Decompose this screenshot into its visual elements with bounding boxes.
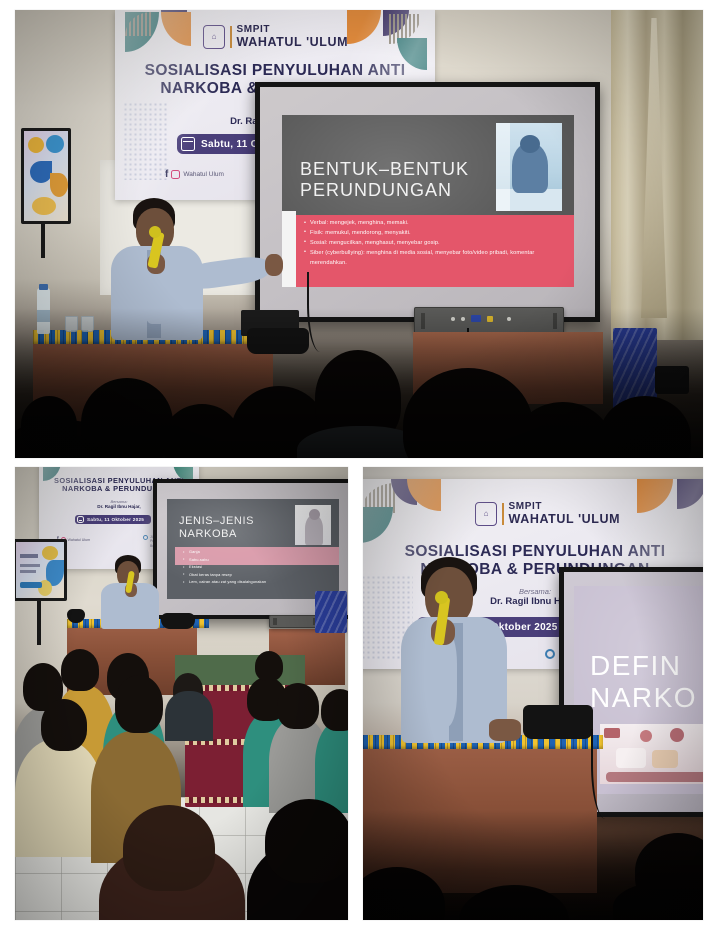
school-logo-row: ⌂ SMPIT WAHATUL 'ULUM (475, 501, 620, 526)
slide-bullet: Obat keras tanpa resep (183, 571, 333, 579)
banner-shape-orange-right (637, 479, 673, 513)
tv-blob-4 (50, 173, 68, 197)
facebook-icon: f (165, 170, 168, 179)
slide-top-bullets: Verbal: mengejek, menghina, memaki. Fisi… (304, 219, 564, 269)
photo-bottom-right: ⌂ SMPIT WAHATUL 'ULUM SOSIALISASI PENYUL… (363, 467, 703, 920)
banner-date-text: Sabtu, 11 Oktober 2025 (87, 517, 144, 522)
audience-shoulder (15, 739, 103, 857)
banner-date-pill: Sabtu, 11 Oktober 2025 (75, 515, 151, 524)
slide-image-pill-4 (616, 748, 646, 768)
tv-blob-5 (32, 197, 56, 215)
slide-bullet: Fisik: memukul, mendorong, menyakiti. (304, 229, 564, 239)
slide-bl-title-line2: NARKOBA (179, 528, 254, 541)
speaker-hand-right (265, 254, 283, 276)
stacked-chairs (315, 591, 347, 633)
banner-social-handle: Wahatul Ulum (68, 538, 90, 542)
slide-bullet: Sosial: mengucilkan, menghasut, menyebar… (304, 239, 564, 249)
projector (269, 615, 321, 628)
audience-head (61, 649, 99, 691)
slide-bl-bullets: Ganja Sabu-sabu Ekstasi Obat keras tanpa… (183, 548, 333, 586)
map-pin-icon (545, 649, 555, 659)
calendar-icon (181, 137, 195, 151)
crest-glyph: ⌂ (212, 33, 217, 41)
logo-divider (502, 503, 504, 525)
bag (523, 705, 593, 739)
audience-head (321, 689, 348, 731)
tv-screen (24, 131, 68, 221)
audience-head (41, 699, 87, 751)
audience-head-hijab (265, 799, 348, 883)
slide-image-window (496, 123, 510, 211)
school-crest-icon: ⌂ (203, 25, 225, 49)
crest-glyph: ⌂ (484, 510, 489, 518)
banner-shape-orange (161, 12, 191, 46)
tv-text-line-1 (20, 554, 38, 558)
tv-cta (20, 582, 42, 588)
school-name-line1: SMPIT (237, 24, 349, 35)
school-name: SMPIT WAHATUL 'ULUM (237, 24, 349, 49)
slide-image-tray (606, 772, 703, 782)
tv-blob-1 (28, 137, 44, 153)
slide-top-title-line1: BENTUK–BENTUK (300, 159, 469, 180)
school-crest-icon: ⌂ (475, 502, 497, 526)
slide-bullet: Sabu-sabu (183, 556, 333, 564)
slide-image-pill-3 (670, 728, 684, 742)
tv-blob-3 (30, 161, 52, 183)
photo-top-shadow (15, 308, 703, 458)
speaker-hand-right (489, 719, 521, 741)
slide-br-title: DEFIN NARKO (590, 650, 697, 714)
audience-head (115, 675, 163, 733)
tv-stand (37, 601, 41, 645)
slide-image-pill-2 (640, 730, 652, 742)
slide-top-title-line2: PERUNDUNGAN (300, 180, 469, 201)
wall-tv (21, 128, 71, 224)
tv-text-line-2 (20, 564, 40, 567)
banner-shape-teal (363, 507, 393, 543)
slide-image-person-head (309, 509, 320, 520)
school-name-line2: WAHATUL 'ULUM (237, 35, 349, 49)
slide-bullet: Verbal: mengejek, menghina, memaki. (304, 219, 564, 229)
tv-screen (16, 542, 64, 598)
slide-bullet: Ekstasi (183, 563, 333, 571)
map-pin-icon (143, 535, 148, 540)
audience-shoulder (165, 691, 213, 741)
school-logo-row: ⌂ SMPIT WAHATUL 'ULUM (203, 24, 348, 49)
instagram-icon (171, 170, 180, 179)
wall-tv (15, 539, 67, 601)
slide-image-person-head (520, 135, 540, 153)
bottle-cap (39, 284, 48, 290)
slide-br-title-line1: DEFIN (590, 650, 697, 682)
audience-shoulder (315, 721, 348, 813)
logo-divider (230, 26, 232, 48)
slide-image (496, 123, 562, 211)
microphone-head (435, 591, 448, 604)
tv-text-line-3 (20, 570, 36, 573)
school-name: SMPIT WAHATUL 'ULUM (509, 501, 621, 526)
banner-title-line1: SOSIALISASI PENYULUHAN ANTI (385, 543, 685, 561)
slide-bottom-left: JENIS–JENIS NARKOBA Ganja Sabu-sabu Ekst… (167, 499, 339, 599)
photo-br-shadow (363, 810, 703, 920)
tv-blob-2 (46, 135, 64, 153)
slide-image (295, 505, 331, 545)
audience-head-hijab (123, 805, 215, 891)
slide-bl-title: JENIS–JENIS NARKOBA (179, 515, 254, 540)
photo-top: ⌂ SMPIT WAHATUL 'ULUM SOSIALISASI PENYUL… (15, 10, 703, 458)
tv-stand (41, 224, 45, 258)
slide-bullet: Ganja (183, 548, 333, 556)
banner-shape-orange (407, 479, 441, 511)
school-name-line2: WAHATUL 'ULUM (509, 512, 621, 526)
school-name-line1: SMPIT (509, 501, 621, 512)
speaker-arm-left (427, 631, 457, 727)
slide-bullet: Lem, cairan atau zat yang disalahgunakan (183, 578, 333, 586)
tv-blob-1 (42, 546, 58, 560)
slide-top: BENTUK–BENTUK PERUNDUNGAN Verbal: mengej… (282, 115, 574, 287)
banner-title-line1: SOSIALISASI PENYULUHAN ANTI (133, 62, 417, 80)
banner-social: f Wahatul Ulum (165, 170, 224, 179)
banner-social-handle: Wahatul Ulum (183, 171, 224, 178)
slide-image-pill-5 (652, 750, 678, 768)
slide-left-notch (282, 211, 296, 287)
photo-collage: ⌂ SMPIT WAHATUL 'ULUM SOSIALISASI PENYUL… (0, 0, 720, 932)
photo-bottom-left: SOSIALISASI PENYULUHAN ANTI NARKOBA & PE… (15, 467, 348, 920)
slide-bullet: Siber (cyberbullying): menghina di media… (304, 249, 564, 269)
slide-image (600, 724, 703, 784)
calendar-icon (77, 516, 84, 523)
audience-head (277, 683, 319, 729)
banner-shape-navy-right (677, 479, 703, 509)
slide-br-title-line2: NARKO (590, 682, 697, 714)
microphone-head (149, 226, 161, 238)
banner-shape-orange-right (347, 10, 381, 44)
slide-bl-title-line1: JENIS–JENIS (179, 515, 254, 528)
audience-head (255, 651, 283, 681)
projector-vent-left (273, 618, 277, 625)
bag (161, 613, 195, 629)
slide-top-title: BENTUK–BENTUK PERUNDUNGAN (300, 159, 469, 200)
